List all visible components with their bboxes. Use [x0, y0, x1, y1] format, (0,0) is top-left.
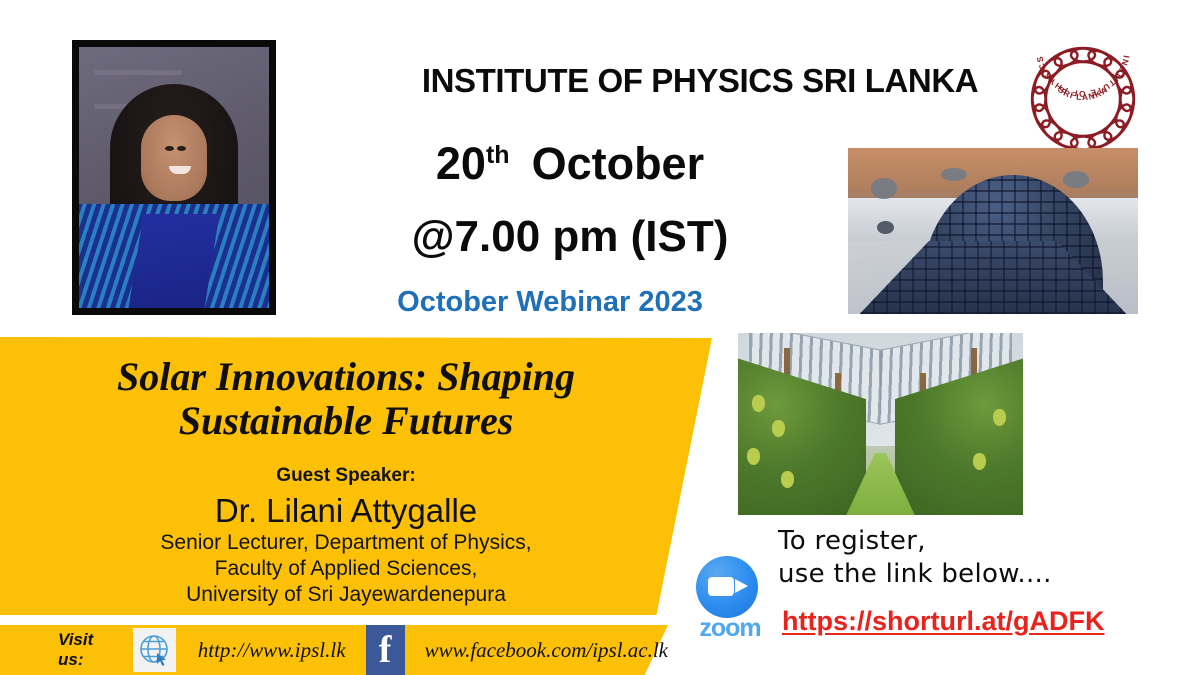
speaker-affiliation-line-1: Senior Lecturer, Department of Physics, [16, 531, 676, 555]
agrivoltaic-orchard-photo [738, 333, 1023, 515]
event-date: 20thOctober [360, 138, 780, 190]
globe-icon [133, 628, 176, 672]
event-month: October [532, 138, 705, 189]
ipsl-logo-icon: INSTITUTE OF PHYSICS SRI LANKA [1022, 38, 1144, 160]
organization-title: INSTITUTE OF PHYSICS SRI LANKA [385, 62, 1015, 100]
webinar-poster: INSTITUTE OF PHYSICS SRI LANKA [0, 0, 1200, 675]
orchard-pear [781, 471, 794, 488]
orchard-pear [973, 453, 986, 470]
dome-roof-object [941, 168, 967, 181]
event-day: 20 [436, 138, 486, 189]
registration-instructions: To register, use the link below.... [778, 525, 1118, 591]
video-camera-lens-icon [735, 579, 748, 593]
registration-line-1: To register, [778, 525, 1118, 558]
svg-text:SRI LANKA: SRI LANKA [1056, 84, 1110, 102]
visit-us-label: Visit us: [58, 630, 119, 670]
talk-title-line-1: Solar Innovations: Shaping [16, 355, 676, 399]
footer-content: Visit us: http://www.ipsl.lk f www.faceb… [0, 625, 668, 675]
zoom-wordmark: zoom [684, 614, 776, 643]
webinar-series-label: October Webinar 2023 [330, 286, 770, 319]
event-day-suffix: th [486, 141, 510, 169]
zoom-logo-icon: zoom [684, 556, 776, 634]
video-camera-icon [708, 577, 734, 596]
photo-eye [177, 146, 186, 151]
photo-face [141, 115, 207, 201]
registration-line-2: use the link below.... [778, 558, 1118, 591]
registration-link[interactable]: https://shorturl.at/gADFK [782, 606, 1112, 637]
speaker-affiliation-line-2: Faculty of Applied Sciences, [16, 557, 676, 581]
photo-background-text [94, 70, 181, 75]
speaker-name: Dr. Lilani Attygalle [16, 492, 676, 530]
talk-title: Solar Innovations: Shaping Sustainable F… [16, 355, 676, 443]
guest-speaker-label: Guest Speaker: [16, 465, 676, 487]
orchard-pear [747, 448, 760, 465]
dome-roof-object [1063, 171, 1089, 188]
photo-eye [165, 146, 174, 151]
facebook-url[interactable]: www.facebook.com/ipsl.ac.lk [425, 638, 668, 663]
event-time: @7.00 pm (IST) [360, 212, 780, 262]
speaker-affiliation-line-3: University of Sri Jayewardenepura [16, 583, 676, 607]
photo-sari-drape [129, 214, 220, 308]
photo-smile [169, 166, 191, 174]
speaker-photo [72, 40, 276, 315]
facebook-icon[interactable]: f [366, 625, 405, 675]
talk-title-line-2: Sustainable Futures [16, 399, 676, 443]
speaker-photo-image [79, 47, 269, 308]
solar-dome-photo [848, 148, 1138, 314]
zoom-badge [696, 556, 758, 618]
website-url[interactable]: http://www.ipsl.lk [198, 638, 346, 663]
